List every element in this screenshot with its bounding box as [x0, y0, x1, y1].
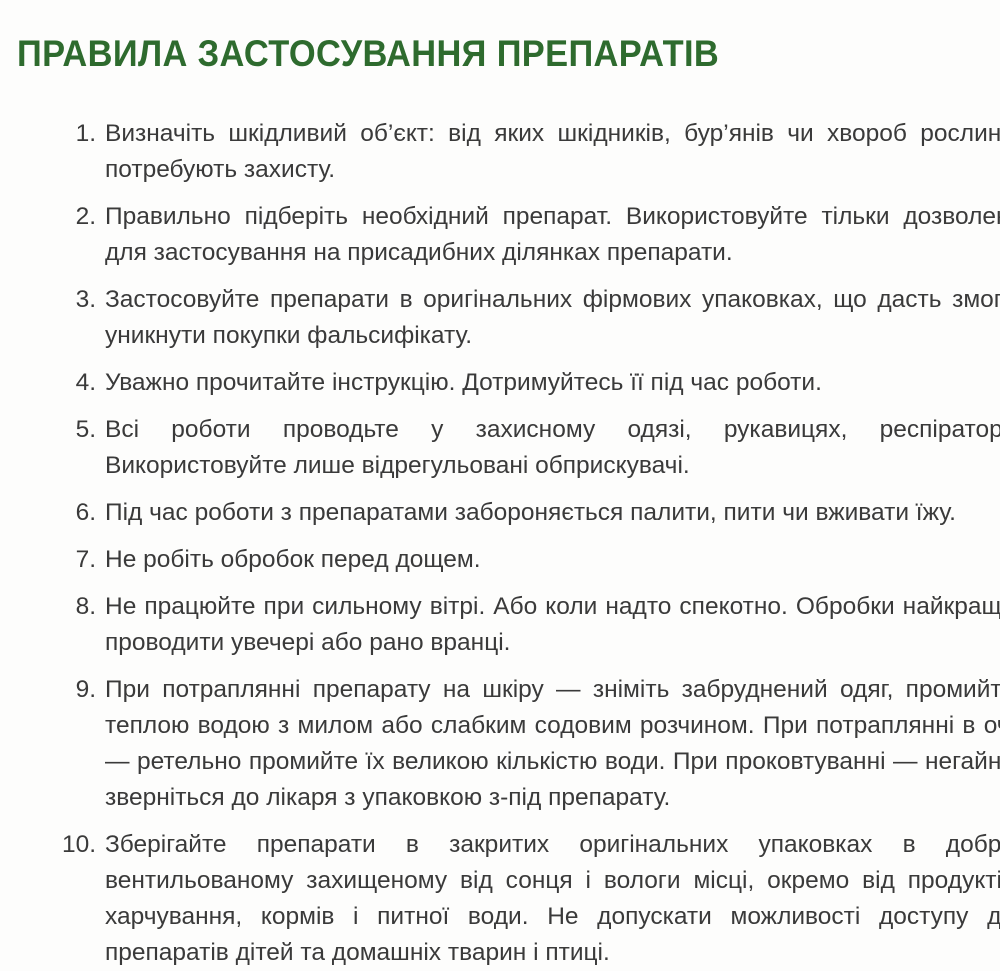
list-item-text: Не робіть обробок перед дощем. — [96, 542, 1000, 578]
list-item-text: Визначіть шкідливий об’єкт: від яких шкі… — [96, 116, 1000, 188]
list-item-text: Зберігайте препарати в закритих оригінал… — [96, 827, 1000, 971]
rules-list: 1. Визначіть шкідливий об’єкт: від яких … — [0, 116, 1000, 971]
list-item: 7. Не робіть обробок перед дощем. — [40, 542, 1000, 578]
list-item: 2. Правильно підберіть необхідний препар… — [40, 199, 1000, 271]
list-item-number: 5. — [57, 412, 96, 448]
list-item-text: Під час роботи з препаратами забороняєть… — [96, 495, 1000, 531]
list-item-number: 6. — [57, 495, 96, 531]
list-item-number: 1. — [57, 116, 96, 152]
list-item: 5. Всі роботи проводьте у захисному одяз… — [40, 412, 1000, 484]
list-item: 6. Під час роботи з препаратами забороня… — [40, 495, 1000, 531]
list-item-text: Застосовуйте препарати в оригінальних фі… — [96, 282, 1000, 354]
list-item-text: Не працюйте при сильному вітрі. Або коли… — [96, 589, 1000, 661]
list-item-number: 4. — [57, 365, 96, 401]
list-item-text: Всі роботи проводьте у захисному одязі, … — [96, 412, 1000, 484]
list-item: 1. Визначіть шкідливий об’єкт: від яких … — [40, 116, 1000, 188]
list-item-number: 10. — [57, 827, 96, 863]
list-item-text: Уважно прочитайте інструкцію. Дотримуйте… — [96, 365, 1000, 401]
page-title: ПРАВИЛА ЗАСТОСУВАННЯ ПРЕПАРАТІВ — [17, 34, 910, 74]
list-item-number: 3. — [57, 282, 96, 318]
document-page: ПРАВИЛА ЗАСТОСУВАННЯ ПРЕПАРАТІВ 1. Визна… — [0, 0, 1000, 853]
list-item-text: При потраплянні препарату на шкіру — зні… — [96, 672, 1000, 816]
list-item-number: 8. — [57, 589, 96, 625]
list-item: 4. Уважно прочитайте інструкцію. Дотриму… — [40, 365, 1000, 401]
list-item: 8. Не працюйте при сильному вітрі. Або к… — [40, 589, 1000, 661]
list-item: 3. Застосовуйте препарати в оригінальних… — [40, 282, 1000, 354]
list-item-text: Правильно підберіть необхідний препарат.… — [96, 199, 1000, 271]
list-item-number: 7. — [57, 542, 96, 578]
list-item-number: 2. — [57, 199, 96, 235]
list-item-number: 9. — [57, 672, 96, 708]
list-item: 9. При потраплянні препарату на шкіру — … — [40, 672, 1000, 816]
list-item: 10. Зберігайте препарати в закритих ориг… — [40, 827, 1000, 971]
